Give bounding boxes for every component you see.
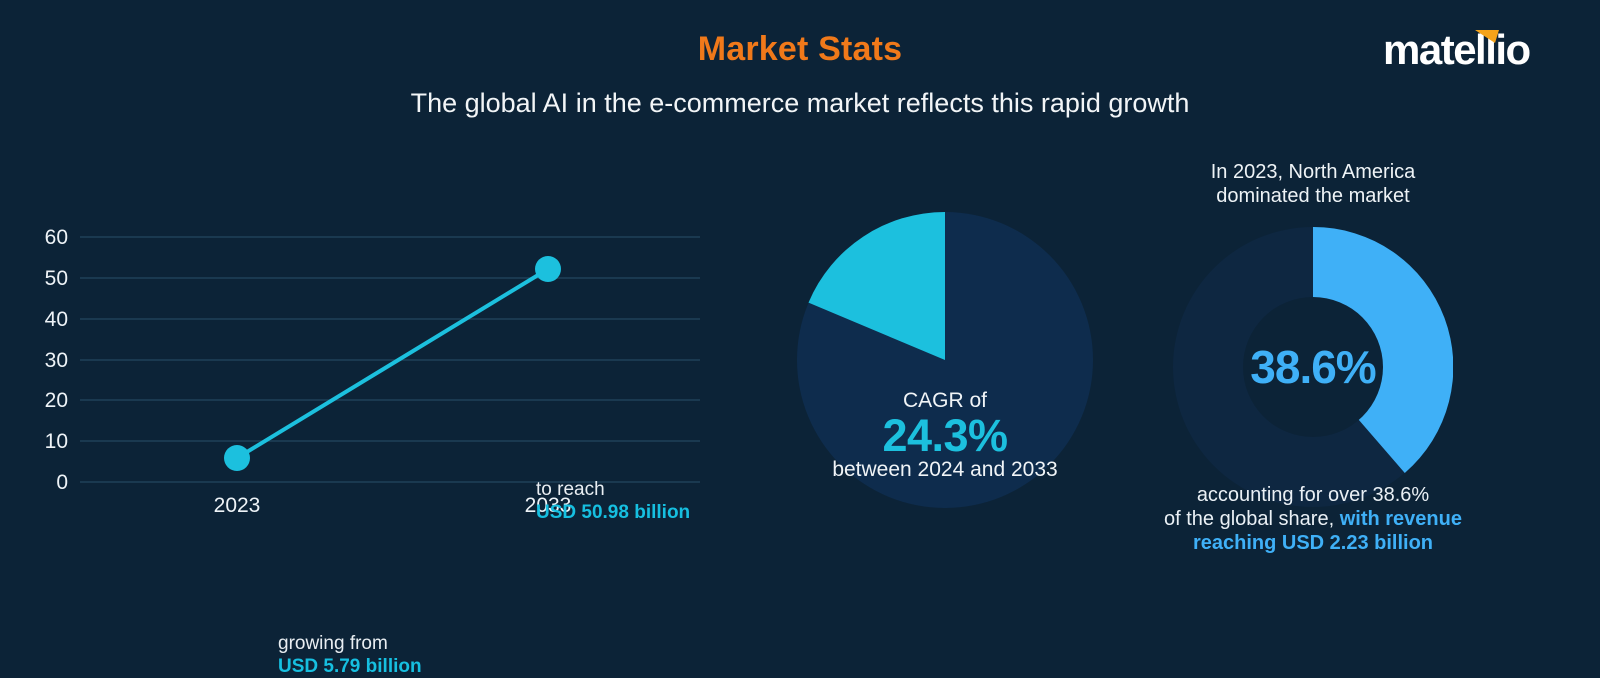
logo-triangle-icon <box>1475 30 1499 43</box>
pie-caption-bottom: between 2024 and 2033 <box>790 459 1100 481</box>
series-line <box>237 269 548 458</box>
matellio-logo: matellio <box>1383 26 1558 74</box>
x-axis-tick-labels: 2023 2033 <box>214 494 572 517</box>
donut-heading-line2: dominated the market <box>1143 184 1483 208</box>
donut-footer-line3: reaching USD 2.23 billion <box>1133 531 1493 555</box>
pie-caption: CAGR of 24.3% between 2024 and 2033 <box>790 390 1100 481</box>
page-title: Market Stats <box>0 30 1600 69</box>
donut-footer-line2-plain: of the global share, <box>1164 508 1340 530</box>
pie-caption-top: CAGR of <box>790 390 1100 412</box>
donut-footer-line2: of the global share, with revenue <box>1133 507 1493 531</box>
svg-text:50: 50 <box>45 267 68 290</box>
donut-footer: accounting for over 38.6% of the global … <box>1133 483 1493 555</box>
svg-text:0: 0 <box>56 471 68 494</box>
infographic-canvas: Market Stats The global AI in the e-comm… <box>0 0 1600 600</box>
gridlines <box>80 237 700 482</box>
data-point-2033 <box>535 256 561 282</box>
annotation-start: growing from USD 5.79 billion <box>278 632 422 678</box>
donut-footer-line1: accounting for over 38.6% <box>1133 483 1493 507</box>
svg-text:2023: 2023 <box>214 494 261 517</box>
annotation-end: to reach USD 50.98 billion <box>536 478 690 524</box>
svg-text:20: 20 <box>45 389 68 412</box>
svg-text:30: 30 <box>45 349 68 372</box>
annotation-start-label: growing from <box>278 632 422 655</box>
annotation-start-value: USD 5.79 billion <box>278 655 422 678</box>
annotation-end-label: to reach <box>536 478 690 501</box>
pie-caption-value: 24.3% <box>790 412 1100 459</box>
logo-wordmark: matellio <box>1383 26 1558 74</box>
annotation-end-value: USD 50.98 billion <box>536 501 690 524</box>
page-subtitle: The global AI in the e-commerce market r… <box>0 88 1600 119</box>
line-chart: 60 50 40 30 20 10 0 2023 2033 growing fr… <box>0 200 740 530</box>
donut-footer-line2-highlight: with revenue <box>1340 508 1462 530</box>
svg-text:60: 60 <box>45 226 68 249</box>
donut-center-value: 38.6% <box>1173 340 1453 394</box>
donut-heading: In 2023, North America dominated the mar… <box>1143 160 1483 208</box>
svg-text:40: 40 <box>45 308 68 331</box>
svg-text:10: 10 <box>45 430 68 453</box>
y-axis-tick-labels: 60 50 40 30 20 10 0 <box>45 226 68 494</box>
donut-heading-line1: In 2023, North America <box>1143 160 1483 184</box>
data-point-2023 <box>224 445 250 471</box>
